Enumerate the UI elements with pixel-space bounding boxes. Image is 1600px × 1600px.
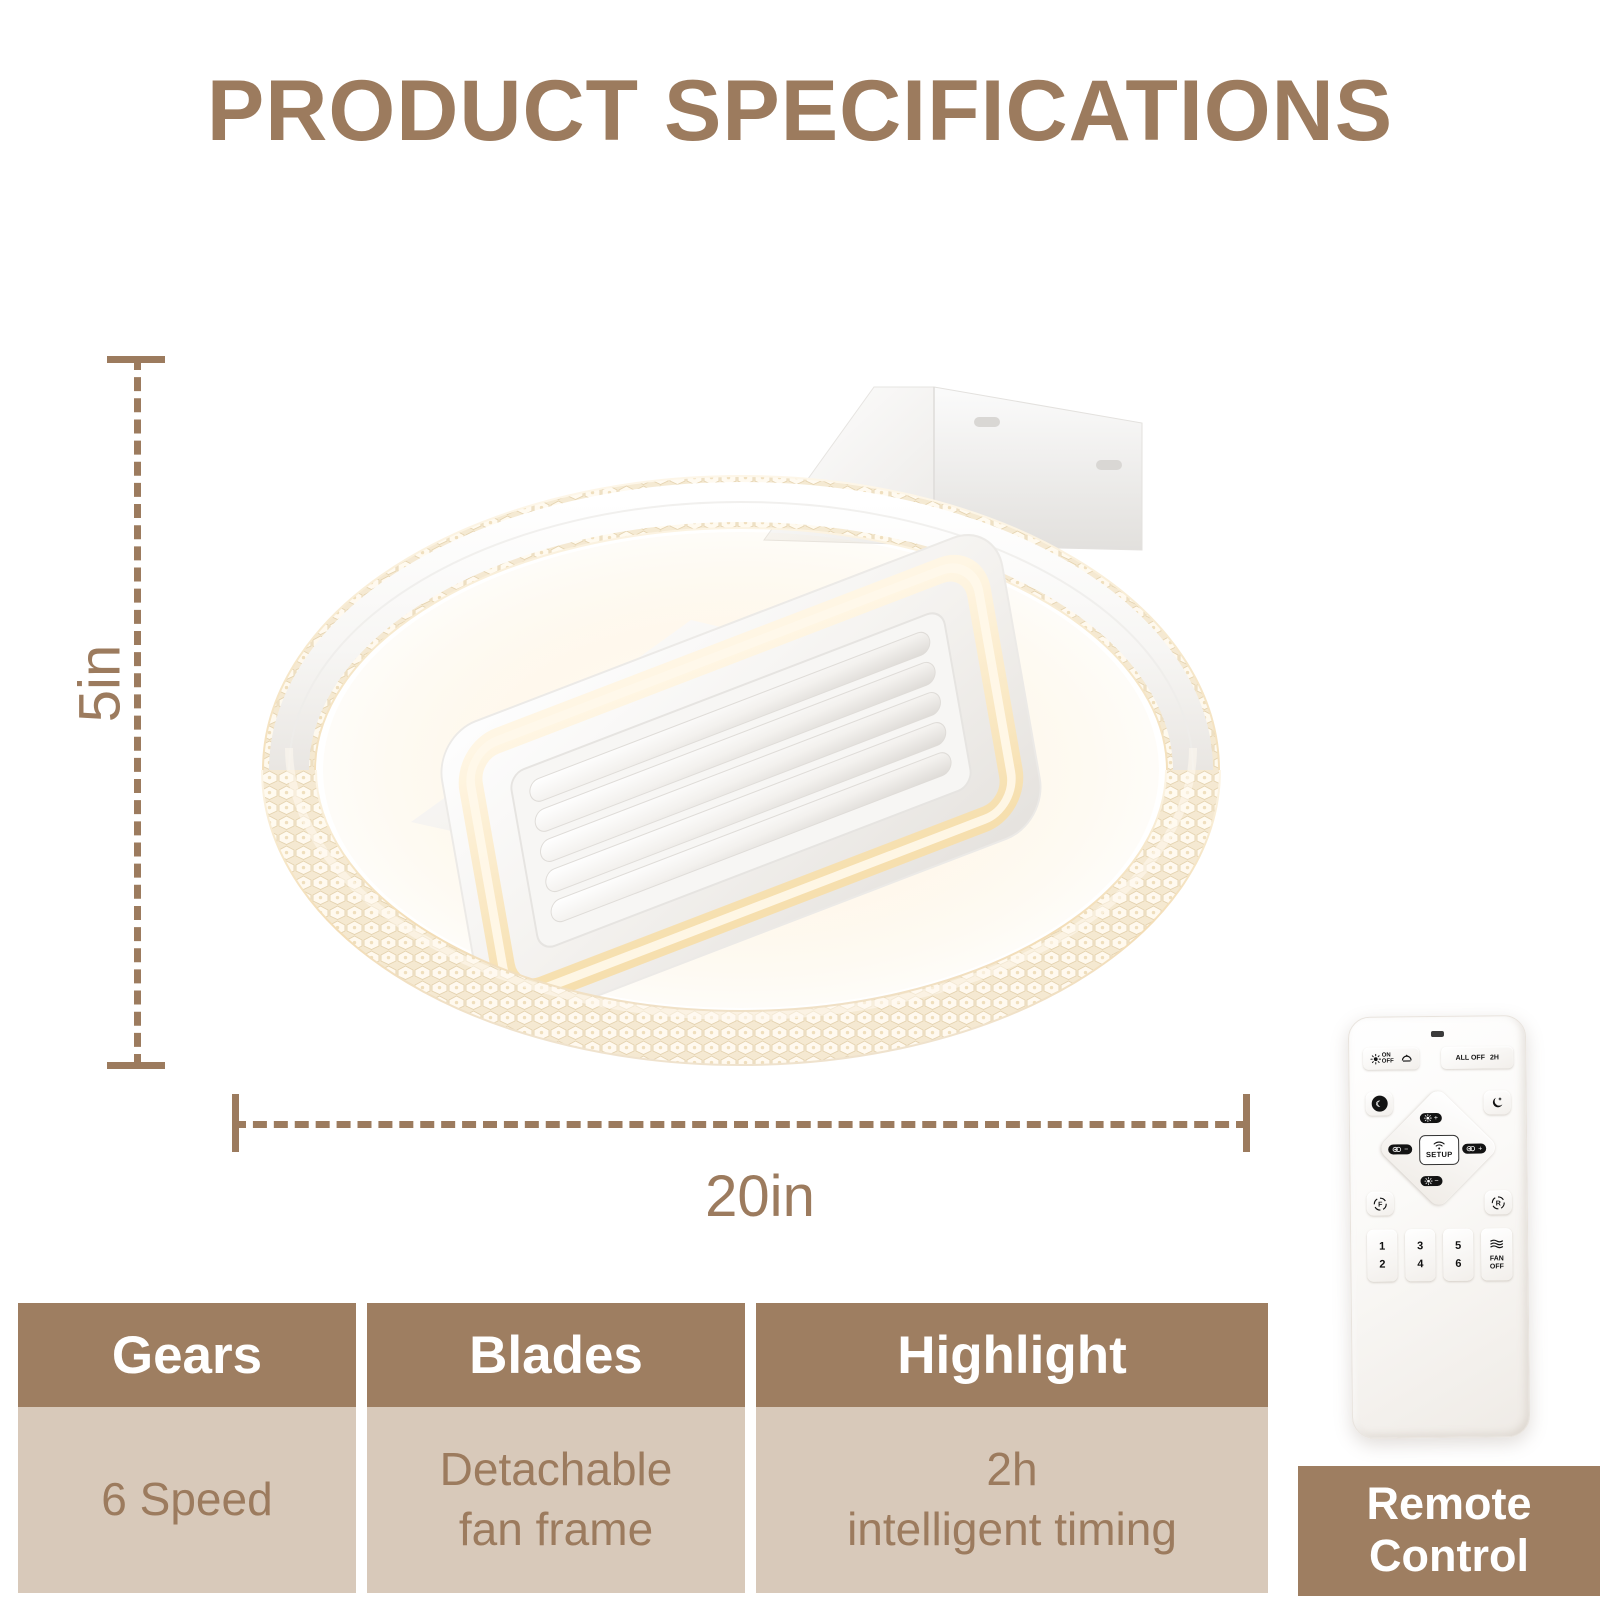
- spec-value-blades: Detachablefan frame: [367, 1407, 745, 1593]
- sleep-mode-button[interactable]: [1484, 1090, 1511, 1114]
- light-bulb-icon: [1370, 1053, 1381, 1064]
- speed-6-label: 6: [1455, 1258, 1461, 1270]
- airflow-waves-icon: [1489, 1238, 1504, 1249]
- reverse-direction-button[interactable]: R: [1485, 1190, 1512, 1214]
- ceiling-fan-light-illustration: [261, 470, 1221, 1070]
- moon-star-icon: [1490, 1095, 1504, 1109]
- color-temp-down-button[interactable]: −: [1388, 1140, 1412, 1158]
- speed-4-label: 4: [1417, 1258, 1423, 1270]
- spec-column-blades: Blades Detachablefan frame: [367, 1303, 745, 1593]
- speed-button-1-2[interactable]: 1 2: [1367, 1229, 1398, 1281]
- forward-rotation-icon: F: [1372, 1195, 1389, 1212]
- spec-header-blades: Blades: [367, 1303, 745, 1407]
- specifications-table: Gears 6 Speed Blades Detachablefan frame…: [18, 1303, 1268, 1593]
- spec-value-highlight: 2hintelligent timing: [756, 1407, 1268, 1593]
- width-dimension-label: 20in: [600, 1163, 920, 1230]
- height-dimension-cap-bottom: [107, 1062, 165, 1069]
- forward-direction-button[interactable]: F: [1367, 1191, 1394, 1215]
- speed-1-label: 1: [1379, 1240, 1385, 1252]
- speed-3-label: 3: [1417, 1240, 1423, 1252]
- product-image: [236, 340, 1246, 1080]
- color-temp-up-icon: +: [1462, 1144, 1486, 1154]
- brightness-down-icon: −: [1420, 1176, 1442, 1186]
- page-title: PRODUCT SPECIFICATIONS: [0, 62, 1600, 161]
- all-off-2h-button[interactable]: ALL OFF 2H: [1441, 1046, 1513, 1069]
- height-dimension-cap-top: [107, 356, 165, 363]
- wifi-icon: [1433, 1141, 1445, 1150]
- spec-column-highlight: Highlight 2hintelligent timing: [756, 1303, 1268, 1593]
- fan-off-button[interactable]: FANOFF: [1481, 1228, 1513, 1280]
- color-temp-down-icon: −: [1388, 1144, 1412, 1154]
- speed-2-label: 2: [1379, 1259, 1385, 1271]
- ir-emitter-icon: [1431, 1031, 1444, 1037]
- spec-header-gears: Gears: [18, 1303, 356, 1407]
- timer-2h-label: 2H: [1490, 1054, 1499, 1061]
- height-dimension-label: 5in: [67, 624, 134, 744]
- width-dimension-cap-left: [232, 1094, 239, 1152]
- setup-button[interactable]: SETUP: [1419, 1135, 1459, 1165]
- speed-5-label: 5: [1455, 1239, 1461, 1251]
- brightness-down-button[interactable]: −: [1420, 1172, 1442, 1190]
- fan-toggle-icon: [1400, 1052, 1413, 1065]
- spec-column-gears: Gears 6 Speed: [18, 1303, 356, 1593]
- brightness-up-button[interactable]: +: [1420, 1109, 1442, 1127]
- svg-text:F: F: [1378, 1200, 1383, 1208]
- remote-control-device: ONOFF ALL OFF 2H ☾: [1348, 1015, 1530, 1439]
- setup-label: SETUP: [1426, 1150, 1453, 1159]
- night-mode-button[interactable]: ☾: [1366, 1091, 1393, 1115]
- fan-off-label: FANOFF: [1490, 1256, 1504, 1271]
- speed-button-5-6[interactable]: 5 6: [1443, 1229, 1474, 1281]
- svg-text:R: R: [1496, 1199, 1501, 1207]
- light-on-off-label: ONOFF: [1382, 1052, 1394, 1064]
- spec-header-highlight: Highlight: [756, 1303, 1268, 1407]
- remote-control-caption: RemoteControl: [1298, 1466, 1600, 1596]
- light-on-off-button[interactable]: ONOFF: [1363, 1047, 1419, 1070]
- moon-contrast-icon: ☾: [1371, 1096, 1387, 1112]
- spec-value-gears: 6 Speed: [18, 1407, 356, 1593]
- speed-button-3-4[interactable]: 3 4: [1405, 1229, 1436, 1281]
- width-dimension-line: [232, 1121, 1250, 1128]
- all-off-label: ALL OFF: [1456, 1054, 1485, 1061]
- reverse-rotation-icon: R: [1490, 1194, 1507, 1211]
- width-dimension-cap-right: [1243, 1094, 1250, 1152]
- brightness-up-icon: +: [1420, 1113, 1442, 1123]
- height-dimension-line: [134, 356, 141, 1068]
- color-temp-up-button[interactable]: +: [1462, 1140, 1486, 1158]
